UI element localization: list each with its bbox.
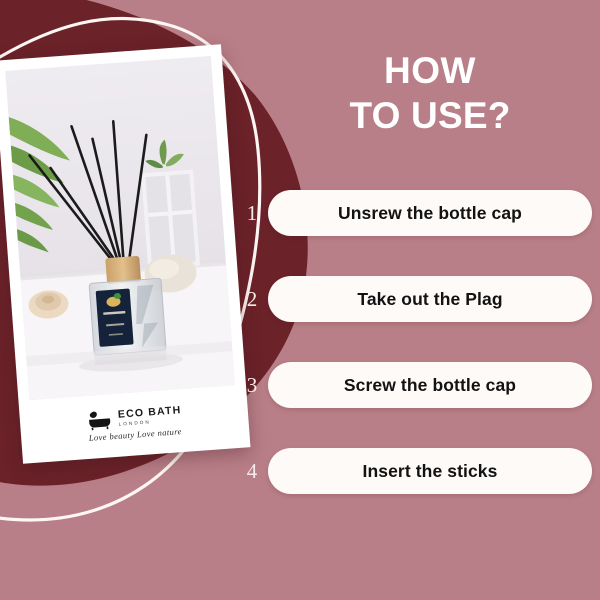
page-title: HOW TO USE? bbox=[270, 48, 590, 138]
brand-subtitle: LONDON bbox=[119, 420, 152, 427]
title-line-2: TO USE? bbox=[270, 93, 590, 138]
list-item: 4 Insert the sticks bbox=[236, 448, 592, 494]
step-label: Insert the sticks bbox=[363, 461, 498, 482]
step-pill-2[interactable]: Take out the Plag bbox=[268, 276, 592, 322]
step-pill-1[interactable]: Unsrew the bottle cap bbox=[268, 190, 592, 236]
bathtub-icon bbox=[86, 409, 113, 431]
steps-list: 1 Unsrew the bottle cap 2 Take out the P… bbox=[236, 190, 592, 494]
title-line-1: HOW bbox=[270, 48, 590, 93]
step-number: 3 bbox=[236, 375, 268, 396]
product-photo-card: ECO BATH LONDON Love beauty Love nature bbox=[0, 44, 250, 464]
step-number: 1 bbox=[236, 203, 268, 224]
list-item: 3 Screw the bottle cap bbox=[236, 362, 592, 408]
list-item: 1 Unsrew the bottle cap bbox=[236, 190, 592, 236]
step-number: 4 bbox=[236, 461, 268, 482]
step-label: Take out the Plag bbox=[357, 289, 502, 310]
list-item: 2 Take out the Plag bbox=[236, 276, 592, 322]
step-pill-3[interactable]: Screw the bottle cap bbox=[268, 362, 592, 408]
step-label: Unsrew the bottle cap bbox=[338, 203, 522, 224]
product-photo-artwork bbox=[5, 56, 235, 400]
step-number: 2 bbox=[236, 289, 268, 310]
product-photo bbox=[5, 56, 235, 400]
step-pill-4[interactable]: Insert the sticks bbox=[268, 448, 592, 494]
step-label: Screw the bottle cap bbox=[344, 375, 516, 396]
poster-canvas: ECO BATH LONDON Love beauty Love nature … bbox=[0, 0, 600, 600]
window-prop-icon bbox=[141, 170, 200, 270]
